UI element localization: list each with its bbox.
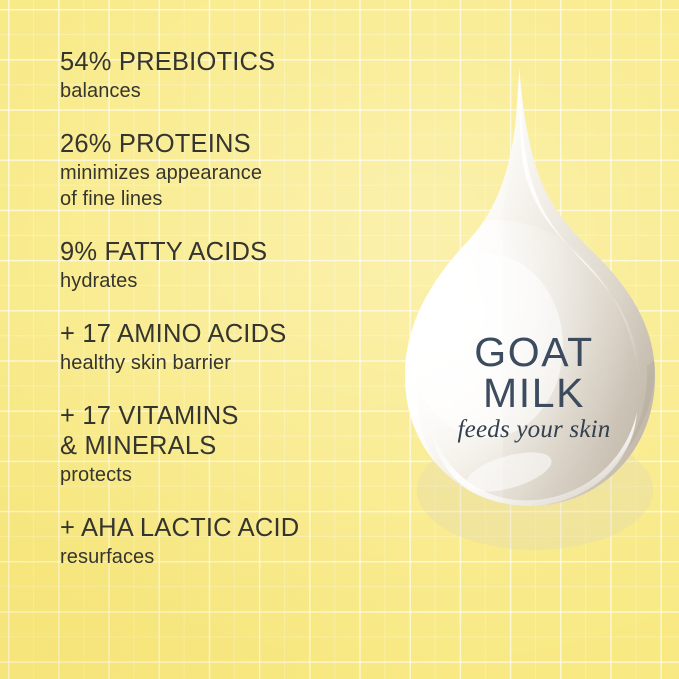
ingredient-title: + AHA LACTIC ACID: [60, 513, 390, 543]
ingredient-title: 9% FATTY ACIDS: [60, 237, 390, 267]
droplet-core-glow: [411, 254, 563, 438]
ingredient-title: 26% PROTEINS: [60, 129, 390, 159]
ingredient-benefit: hydrates: [60, 268, 390, 294]
milk-droplet: GOAT MILK feeds your skin: [383, 60, 679, 552]
ingredient-item-proteins: 26% PROTEINS minimizes appearance of fin…: [60, 129, 390, 212]
goat-milk-ingredient-poster: 54% PREBIOTICS balances 26% PROTEINS min…: [0, 0, 679, 679]
ingredient-title: + 17 VITAMINS & MINERALS: [60, 401, 390, 461]
milk-droplet-icon: [383, 60, 679, 552]
ingredient-item-amino-acids: + 17 AMINO ACIDS healthy skin barrier: [60, 319, 390, 376]
ingredient-item-prebiotics: 54% PREBIOTICS balances: [60, 47, 390, 104]
ingredient-item-vitamins-minerals: + 17 VITAMINS & MINERALS protects: [60, 401, 390, 488]
ingredient-benefit: minimizes appearance of fine lines: [60, 160, 390, 212]
ingredient-list: 54% PREBIOTICS balances 26% PROTEINS min…: [60, 47, 390, 570]
ingredient-title: 54% PREBIOTICS: [60, 47, 390, 77]
ingredient-item-fatty-acids: 9% FATTY ACIDS hydrates: [60, 237, 390, 294]
ingredient-item-aha-lactic-acid: + AHA LACTIC ACID resurfaces: [60, 513, 390, 570]
ingredient-benefit: resurfaces: [60, 544, 390, 570]
ingredient-benefit: balances: [60, 78, 390, 104]
ingredient-benefit: protects: [60, 462, 390, 488]
ingredient-benefit: healthy skin barrier: [60, 350, 390, 376]
ingredient-title: + 17 AMINO ACIDS: [60, 319, 390, 349]
